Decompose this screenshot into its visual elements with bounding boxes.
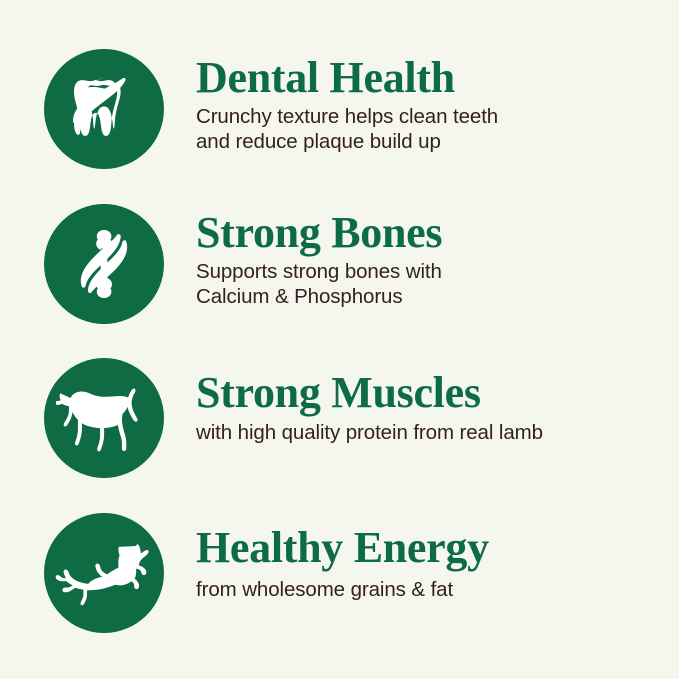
benefit-text-block: Strong Bones Supports strong bones with …	[196, 210, 666, 309]
benefit-subtitle-line: from wholesome grains & fat	[196, 578, 666, 603]
benefit-subtitle: Supports strong bones with Calcium & Pho…	[196, 256, 666, 309]
benefit-subtitle-line: Supports strong bones with	[196, 260, 666, 285]
benefit-subtitle-line: Crunchy texture helps clean teeth	[196, 105, 666, 130]
benefit-text-block: Healthy Energy from wholesome grains & f…	[196, 525, 666, 603]
benefit-subtitle: from wholesome grains & fat	[196, 571, 666, 603]
leaping-dog-icon	[52, 537, 156, 609]
benefit-title: Healthy Energy	[196, 525, 666, 571]
benefit-text-block: Dental Health Crunchy texture helps clea…	[196, 55, 666, 154]
benefit-title: Strong Muscles	[196, 370, 666, 416]
bone-shine-icon-badge	[44, 204, 164, 324]
standing-dog-icon	[56, 378, 152, 458]
benefit-subtitle-line: Calcium & Phosphorus	[196, 285, 666, 310]
leaping-dog-icon-badge	[44, 513, 164, 633]
benefit-subtitle: Crunchy texture helps clean teeth and re…	[196, 101, 666, 154]
benefit-subtitle-line: with high quality protein from real lamb	[196, 421, 666, 446]
benefit-title: Dental Health	[196, 55, 666, 101]
benefit-subtitle-line: and reduce plaque build up	[196, 130, 666, 155]
benefits-panel: Dental Health Crunchy texture helps clea…	[0, 0, 679, 679]
tooth-shine-icon	[60, 65, 148, 153]
standing-dog-icon-badge	[44, 358, 164, 478]
bone-shine-icon	[60, 220, 148, 308]
benefit-subtitle: with high quality protein from real lamb	[196, 416, 666, 446]
tooth-shine-icon-badge	[44, 49, 164, 169]
benefit-title: Strong Bones	[196, 210, 666, 256]
benefit-text-block: Strong Muscles with high quality protein…	[196, 370, 666, 446]
